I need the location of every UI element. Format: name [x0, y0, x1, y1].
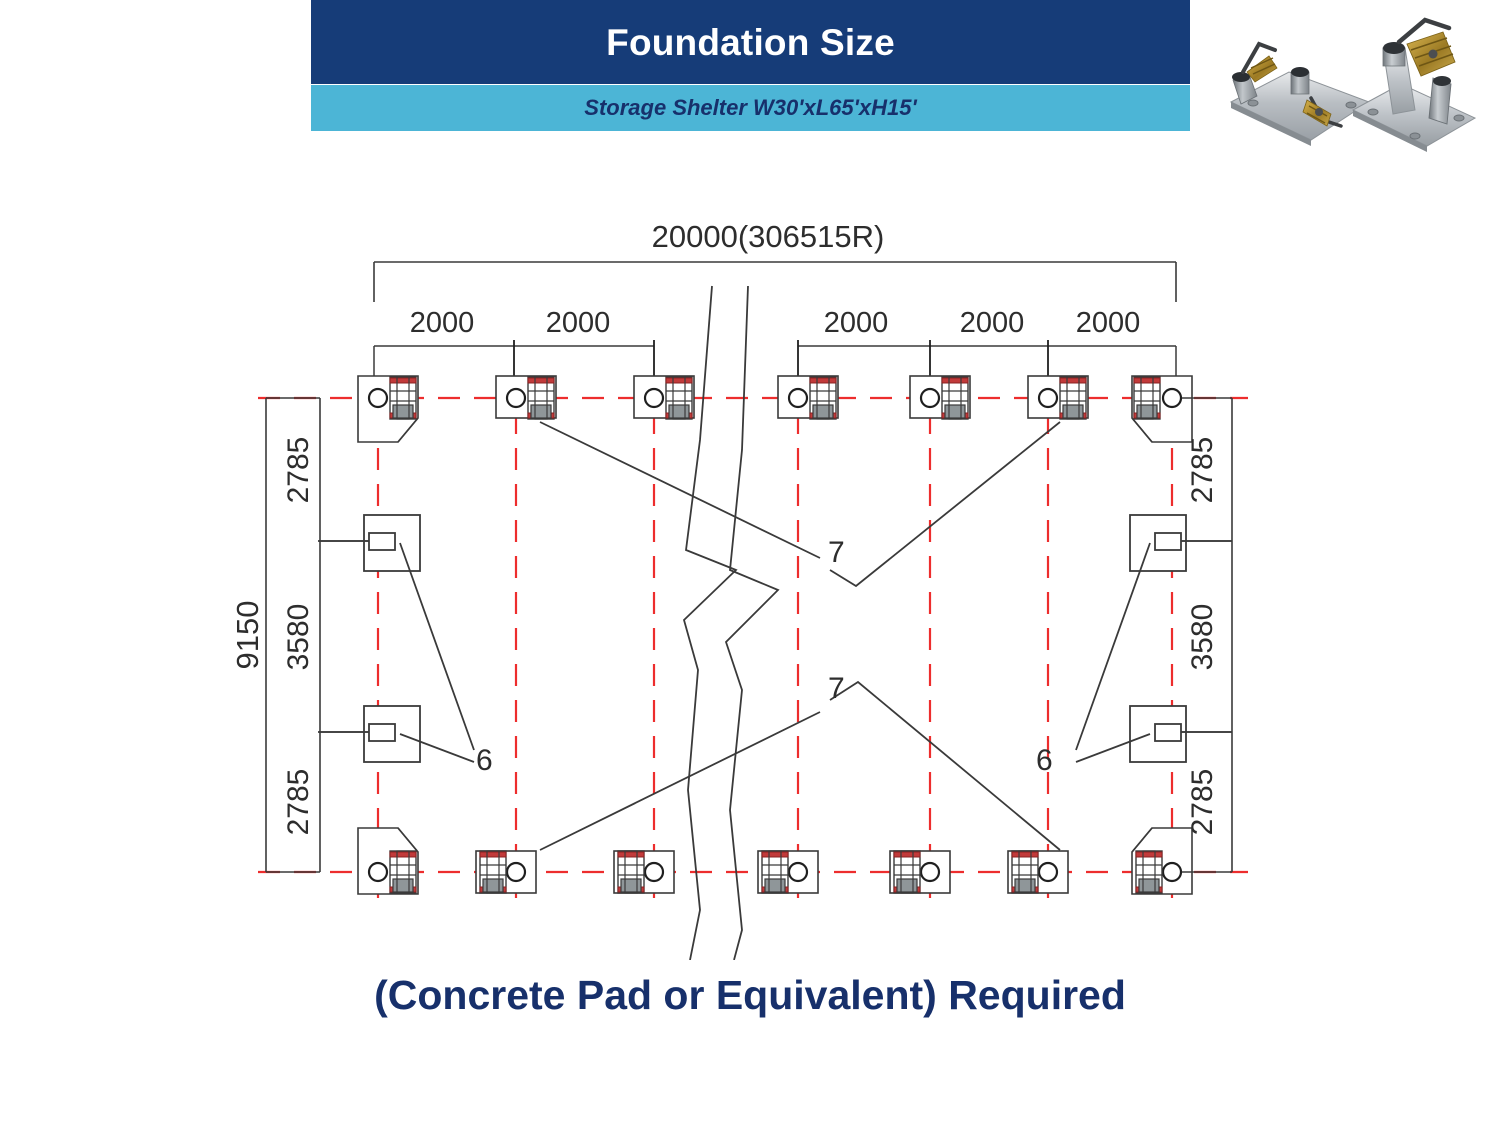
side-anchor-right-lower [1130, 706, 1232, 762]
anchor-foot-top-3 [634, 376, 694, 419]
right-segment-label-3: 2785 [1186, 769, 1219, 836]
header-block: Foundation Size Storage Shelter W30'xL65… [311, 0, 1190, 131]
overall-length-label: 20000(306515R) [652, 219, 885, 254]
product-photo-group [1215, 10, 1490, 155]
right-segment-label-1: 2785 [1186, 437, 1219, 504]
left-segment-label-2: 3580 [282, 604, 315, 671]
callout-group: 7 6 6 7 [400, 422, 1150, 850]
base-plate-single-ratchet-photo [1343, 14, 1488, 154]
overall-length-dimension: 20000(306515R) [374, 219, 1176, 302]
bay-label-2: 2000 [546, 307, 611, 339]
bay-label-4: 2000 [960, 307, 1025, 339]
side-anchor-left-lower [318, 706, 420, 762]
anchor-foot-top-6 [1028, 376, 1088, 419]
anchor-foot-corner-top-left [358, 376, 418, 442]
anchor-foot-top-5 [910, 376, 970, 419]
bay-label-5: 2000 [1076, 307, 1141, 339]
right-segment-label-2: 3580 [1186, 604, 1219, 671]
left-segment-label-3: 2785 [282, 769, 315, 836]
right-dimension-group: 2785 3580 2785 [1182, 398, 1232, 872]
foundation-plan-drawing: 20000(306515R) 2000 2000 2000 2000 2000 [0, 150, 1500, 960]
subtitle-band: Storage Shelter W30'xL65'xH15' [311, 85, 1190, 131]
callout-label-6-right: 6 [1036, 744, 1053, 777]
overall-width-label: 9150 [230, 601, 265, 670]
anchor-row-top [358, 376, 1192, 442]
side-anchor-left-upper [318, 515, 420, 571]
callout-label-7-lower: 7 [828, 672, 845, 705]
centerline-group [258, 376, 1248, 898]
left-dimension-group: 9150 2785 3580 2785 [230, 398, 368, 872]
anchor-foot-corner-bottom-left [358, 828, 418, 894]
side-anchor-right-upper [1130, 515, 1232, 571]
anchor-foot-bottom-2 [476, 851, 536, 893]
side-anchor-group [318, 515, 1232, 762]
page-subtitle: Storage Shelter W30'xL65'xH15' [584, 95, 916, 121]
left-segment-label-1: 2785 [282, 437, 315, 504]
page-title: Foundation Size [606, 24, 895, 61]
callout-label-7-upper: 7 [828, 536, 845, 569]
anchor-foot-top-2 [496, 376, 556, 419]
anchor-foot-bottom-3 [614, 851, 674, 893]
anchor-foot-corner-bottom-right [1132, 828, 1192, 894]
callout-label-6-left: 6 [476, 744, 493, 777]
anchor-foot-bottom-6 [1008, 851, 1068, 893]
footer-note: (Concrete Pad or Equivalent) Required [0, 975, 1500, 1016]
title-band: Foundation Size [311, 0, 1190, 84]
anchor-foot-bottom-5 [890, 851, 950, 893]
anchor-foot-bottom-4 [758, 851, 818, 893]
concrete-pad-requirement-text: (Concrete Pad or Equivalent) Required [374, 972, 1126, 1018]
anchor-row-bottom [358, 828, 1192, 894]
bay-label-1: 2000 [410, 307, 475, 339]
anchor-foot-top-4 [778, 376, 838, 419]
bay-label-3: 2000 [824, 307, 889, 339]
anchor-foot-corner-top-right [1132, 376, 1192, 442]
